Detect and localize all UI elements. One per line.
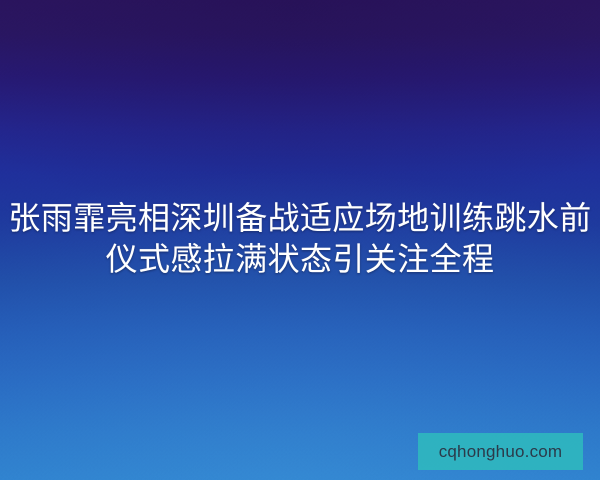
headline: 张雨霏亮相深圳备战适应场地训练跳水前 仪式感拉满状态引关注全程 — [0, 198, 600, 280]
thumbnail-canvas: 张雨霏亮相深圳备战适应场地训练跳水前 仪式感拉满状态引关注全程 cqhonghu… — [0, 0, 600, 480]
watermark-badge: cqhonghuo.com — [418, 433, 583, 470]
headline-line-1: 张雨霏亮相深圳备战适应场地训练跳水前 — [0, 198, 600, 239]
watermark-text: cqhonghuo.com — [439, 443, 563, 460]
headline-line-2: 仪式感拉满状态引关注全程 — [0, 239, 600, 280]
